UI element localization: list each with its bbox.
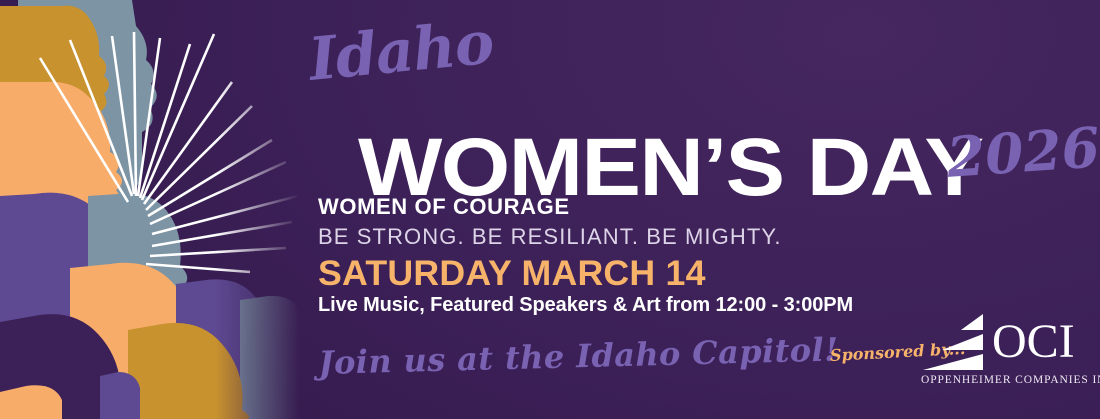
event-tagline: BE STRONG. BE RESILIANT. BE MIGHTY. [318, 224, 782, 250]
sponsor-block: Sponsored by... OCI OPPENHEIMER COMPANIE… [828, 312, 1094, 396]
banner-content: Idaho WOMEN’S DAY 2026 WOMEN OF COURAGE … [0, 0, 1100, 419]
event-date: SATURDAY MARCH 14 [318, 254, 706, 294]
year-label: 2026 [945, 119, 1100, 185]
oci-wordmark: OPPENHEIMER COMPANIES INC [921, 374, 1100, 386]
event-call-to-action: Join us at the Idaho Capitol! [318, 330, 839, 382]
event-theme: WOMEN OF COURAGE [318, 194, 570, 220]
oci-logo: OCI OPPENHEIMER COMPANIES INC [920, 312, 1094, 396]
oci-sail-triangle-icon [920, 312, 998, 374]
idaho-womens-day-banner: Idaho WOMEN’S DAY 2026 WOMEN OF COURAGE … [0, 0, 1100, 419]
oci-initials: OCI [992, 318, 1075, 366]
event-details: Live Music, Featured Speakers & Art from… [318, 294, 853, 317]
script-idaho-word: Idaho [306, 13, 495, 89]
